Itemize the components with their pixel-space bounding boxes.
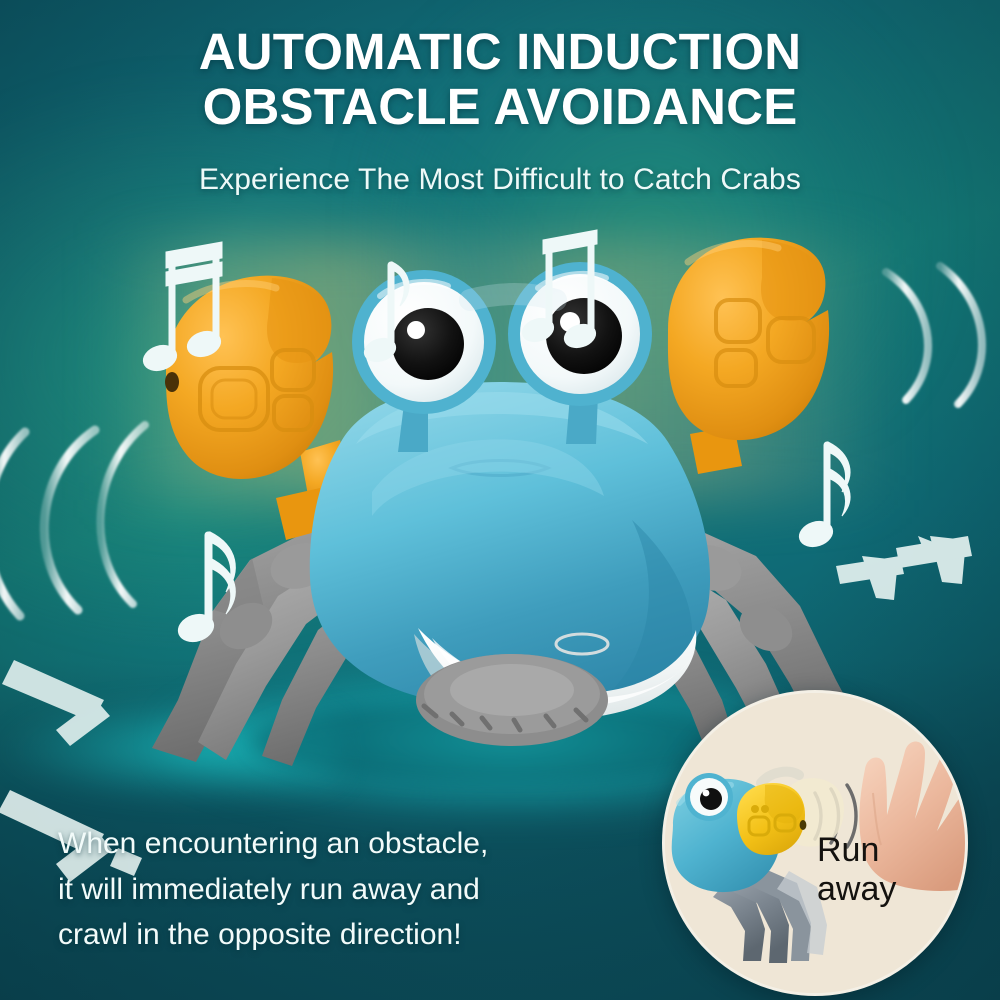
- headline-line-1: AUTOMATIC INDUCTION: [199, 23, 802, 80]
- headline-line-2: OBSTACLE AVOIDANCE: [0, 79, 1000, 134]
- product-marketing-image: AUTOMATIC INDUCTION OBSTACLE AVOIDANCE E…: [0, 0, 1000, 1000]
- crab-claw-left-sensor: [165, 372, 179, 392]
- crab-motion-blur-streak: [470, 294, 556, 300]
- crab-claw-left: [165, 276, 333, 479]
- description-text: When encountering an obstacle, it will i…: [58, 821, 488, 958]
- crab-eye-right-glint: [560, 312, 580, 332]
- crab-wheel: [416, 654, 608, 746]
- inset-illustration: [665, 693, 965, 993]
- crab-claw-right: [668, 238, 829, 440]
- crab-claw-right-thumb: [761, 240, 825, 321]
- crab-eye-left-glint: [407, 321, 425, 339]
- description-line-3: crawl in the opposite direction!: [58, 912, 488, 958]
- description-line-2: it will immediately run away and: [58, 867, 488, 913]
- inset-label-line-1: Run: [817, 831, 896, 870]
- crab-eye-left-pupil: [392, 308, 464, 380]
- headline: AUTOMATIC INDUCTION OBSTACLE AVOIDANCE: [0, 24, 1000, 134]
- inset-label-line-2: away: [817, 870, 896, 909]
- inset-crab-eye: [685, 773, 733, 821]
- subheadline: Experience The Most Difficult to Catch C…: [0, 163, 1000, 197]
- inset-run-away-label: Run away: [817, 831, 896, 910]
- inset-demo-circle: Run away: [662, 690, 968, 996]
- description-line-1: When encountering an obstacle,: [58, 821, 488, 867]
